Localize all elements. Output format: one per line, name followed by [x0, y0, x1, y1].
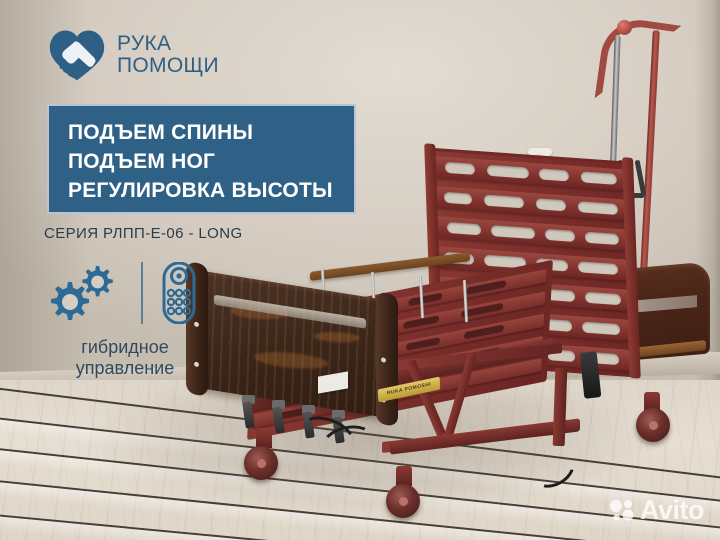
caster-wheel-rear-right: [636, 408, 670, 442]
brand-name-line2: ПОМОЩИ: [117, 55, 219, 77]
footboard: [196, 270, 388, 418]
feature-banner: ПОДЪЕМ СПИНЫ ПОДЪЕМ НОГ РЕГУЛИРОВКА ВЫСО…: [47, 104, 356, 214]
caster-wheel-front-left: [244, 446, 278, 480]
hybrid-control-label: гибридное управление: [40, 337, 210, 379]
series-label: СЕРИЯ РЛПП-Е-06 - LONG: [44, 225, 243, 242]
banner-line-1: ПОДЪЕМ СПИНЫ: [68, 118, 354, 147]
avito-watermark: Avito: [609, 495, 704, 526]
avito-wordmark: Avito: [640, 495, 704, 526]
handshake-heart-icon: [48, 26, 106, 84]
brand-name: РУКА ПОМОЩИ: [117, 33, 219, 77]
brand-logo: РУКА ПОМОЩИ: [48, 26, 219, 84]
power-cable-3: [525, 443, 582, 495]
trapeze-pole-arc: [595, 15, 682, 109]
caster-wheel-front-right: [386, 484, 420, 518]
remote-control-icon: [156, 262, 202, 324]
banner-line-2: ПОДЪЕМ НОГ: [68, 147, 354, 176]
avito-dots-icon: [609, 498, 635, 524]
icon-divider: [141, 262, 143, 324]
advertisement-image: RUKA POMOSHI: [0, 0, 720, 540]
banner-line-3: РЕГУЛИРОВКА ВЫСОТЫ: [68, 176, 354, 205]
trapeze-pivot-knob: [617, 20, 632, 35]
base-leg-right: [553, 368, 568, 446]
hybrid-label-line2: управление: [40, 358, 210, 379]
brand-name-line1: РУКА: [117, 33, 219, 55]
gears-icon: [44, 262, 122, 324]
hybrid-label-line1: гибридное: [40, 337, 210, 358]
hybrid-control-icons: [44, 262, 204, 324]
